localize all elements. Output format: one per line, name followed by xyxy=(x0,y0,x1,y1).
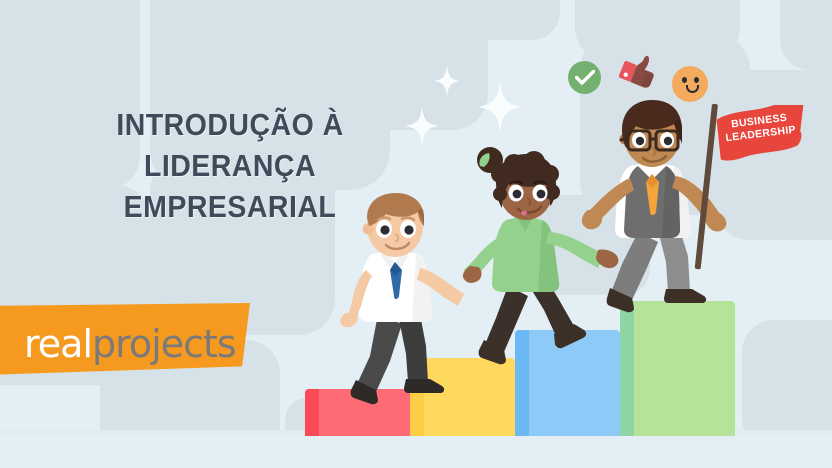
title-line-2: LIDERANÇA xyxy=(74,145,387,186)
smiley-eye-right xyxy=(694,77,699,83)
step-4-face xyxy=(620,301,735,436)
check-circle-icon xyxy=(568,61,601,94)
sparkle-icon xyxy=(478,82,522,132)
logo-word-real: real xyxy=(24,322,92,366)
slide-canvas: INTRODUÇÃO À LIDERANÇA EMPRESARIAL realp… xyxy=(0,0,832,468)
logo-wordmark: realprojects xyxy=(24,322,236,366)
step-1-edge xyxy=(305,389,319,436)
background-shape xyxy=(440,0,560,40)
sparkle-icon xyxy=(434,66,460,96)
background-shape xyxy=(780,0,832,70)
step-4 xyxy=(620,301,735,436)
ground-strip xyxy=(0,434,832,468)
sparkle-icon xyxy=(405,107,439,145)
title-line-1: INTRODUÇÃO À xyxy=(74,104,387,145)
smiley-eye-left xyxy=(682,77,687,83)
smiley-mouth xyxy=(686,85,699,93)
logo-word-projects: projects xyxy=(92,322,236,366)
thumbs-up-icon xyxy=(617,45,665,93)
smiley-face-icon xyxy=(672,66,708,102)
